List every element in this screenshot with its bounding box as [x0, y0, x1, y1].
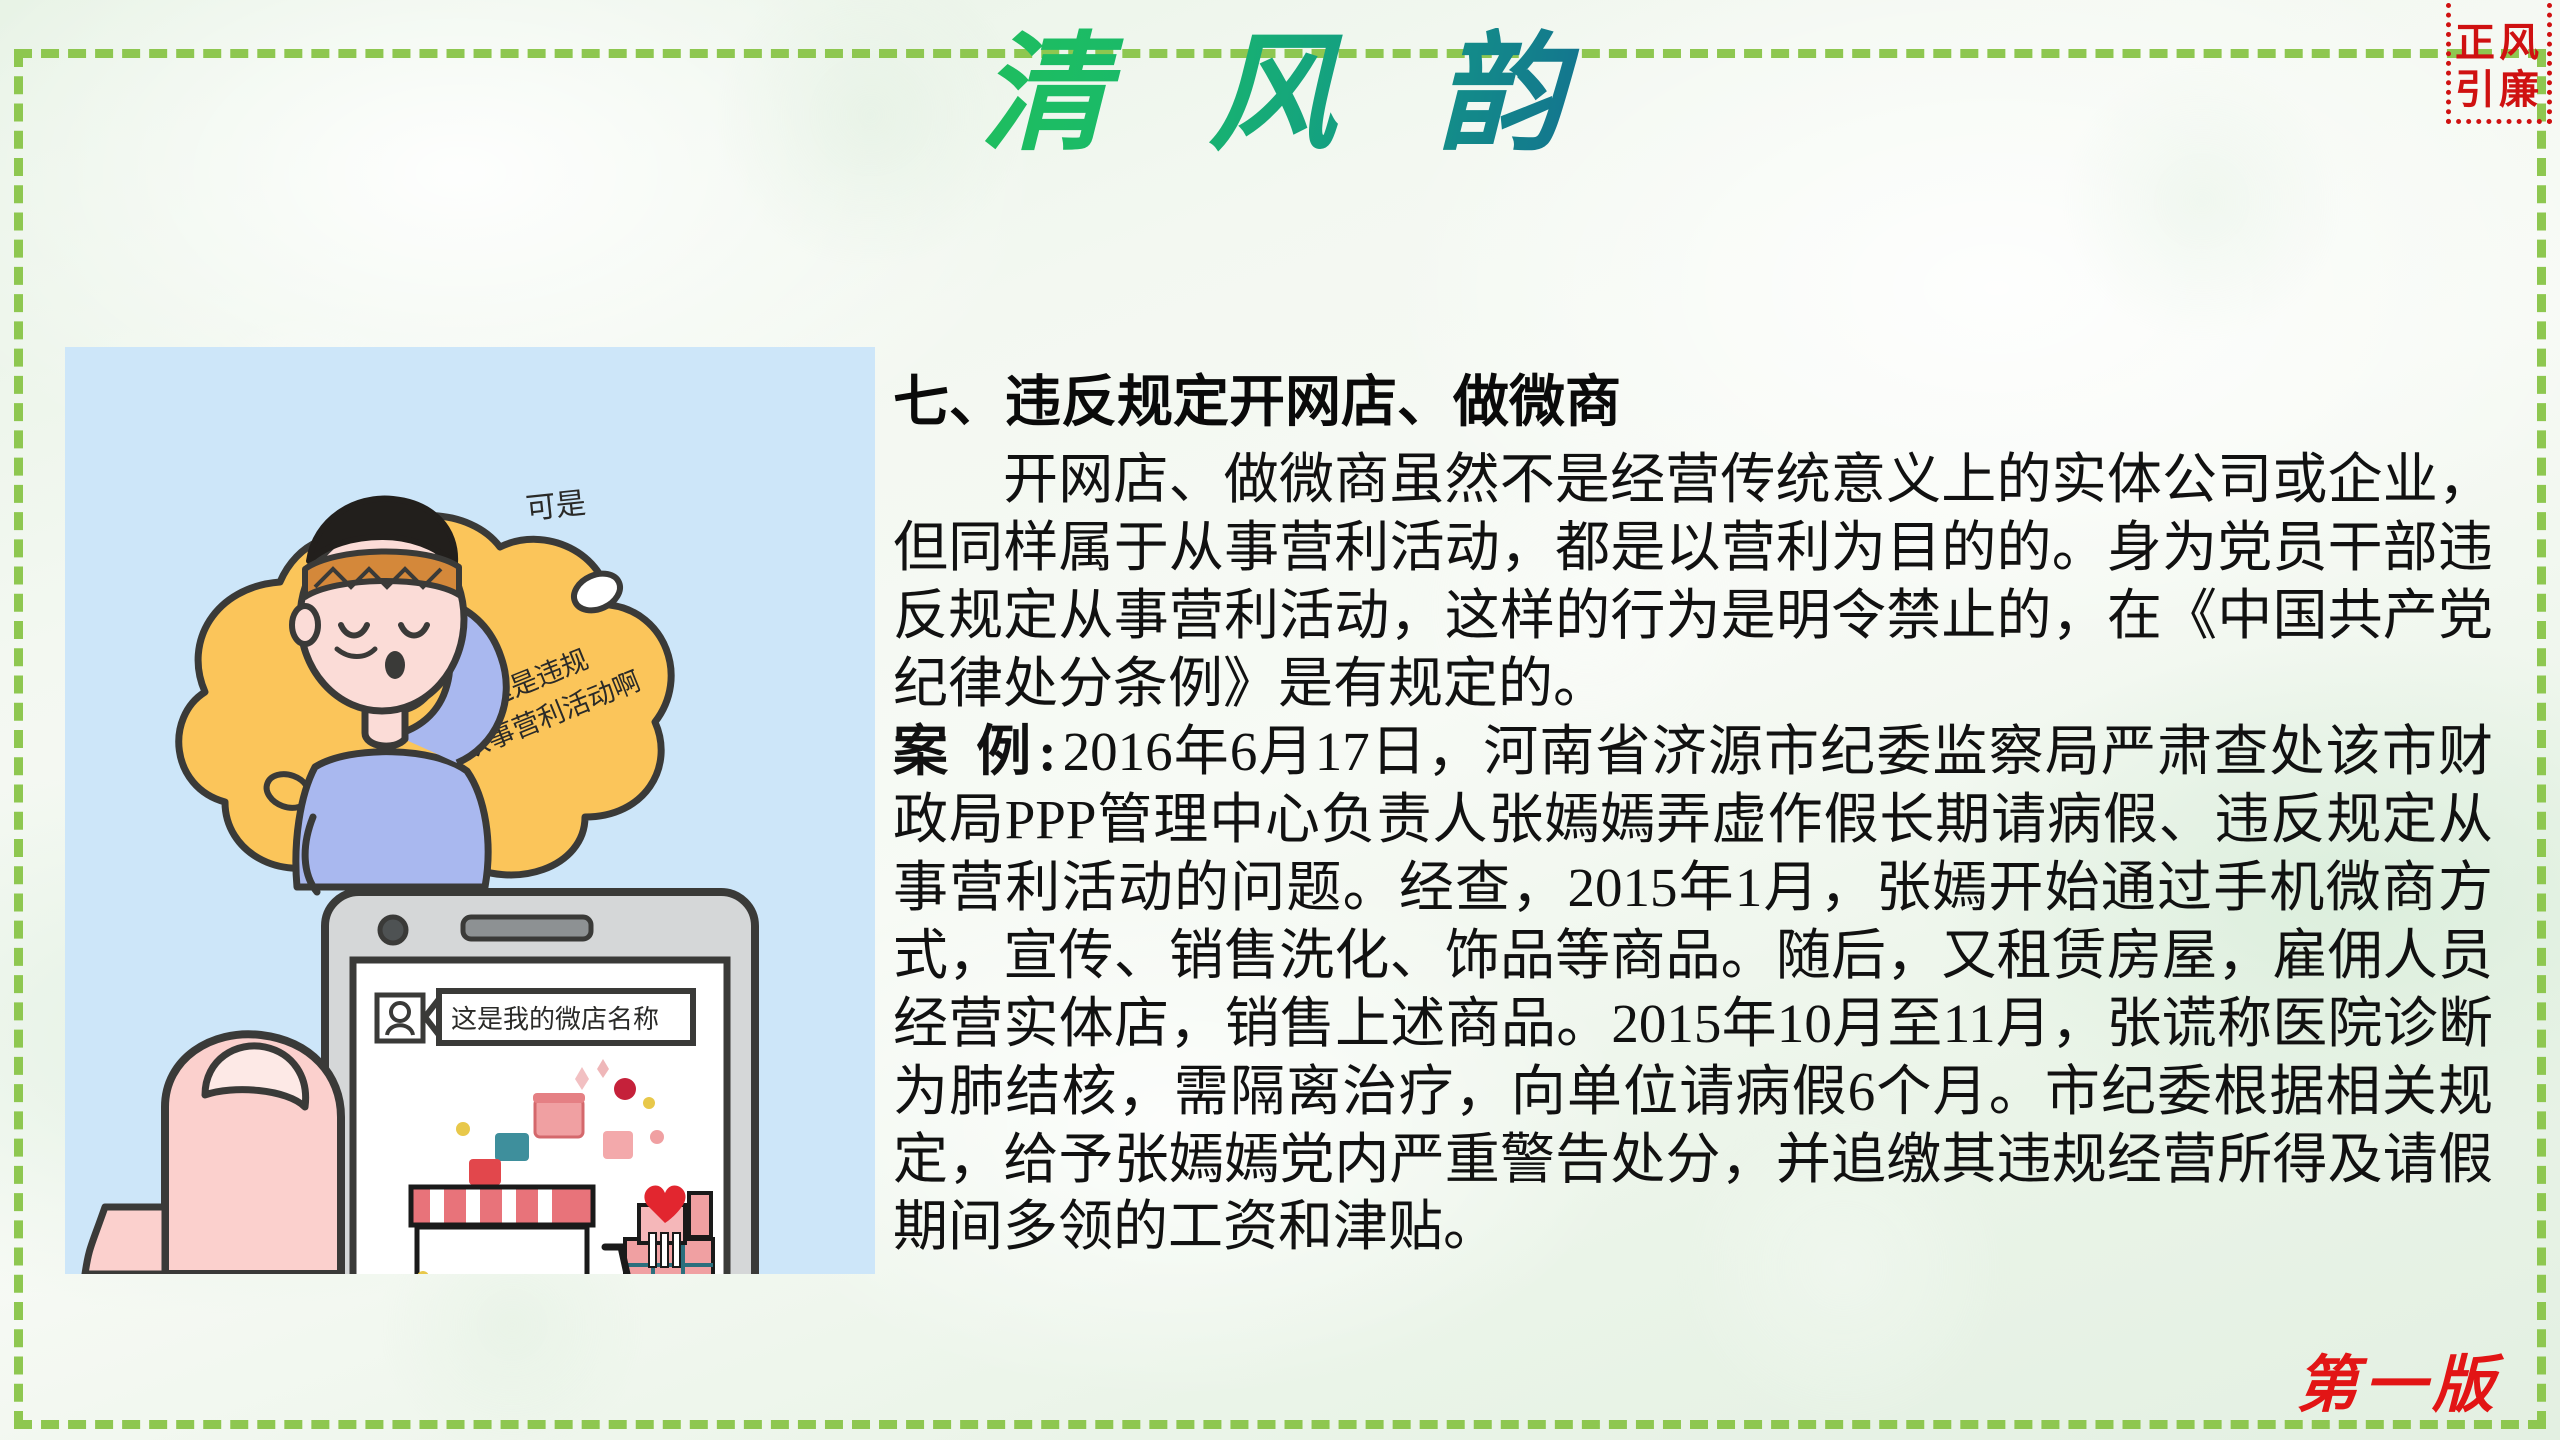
edition-mark: 第一版 [2296, 1334, 2500, 1424]
illustration-artwork: 可是 这是违规 从事营利活动啊 [65, 347, 875, 1274]
seal-line-2: 引廉 [2455, 68, 2543, 113]
main-content: 可是 这是违规 从事营利活动啊 [0, 0, 2560, 1440]
article-body: 开网店、做微商虽然不是经营传统意义上的实体公司或企业，但同样属于从事营利活动，都… [893, 446, 2493, 1261]
article-illustration: 可是 这是违规 从事营利活动啊 [65, 347, 875, 1274]
storefront-icon: BUY [411, 1187, 593, 1274]
newspaper-page: 清 风 韵 正风 引廉 可是 这是违规 从事营利活动啊 [0, 0, 2560, 1440]
thought-text-top: 可是 [524, 487, 587, 526]
article-case: 案 例:2016年6月17日，河南省济源市纪委监察局严肃查处该市财政局PPP管理… [893, 718, 2493, 1261]
case-text: 2016年6月17日，河南省济源市纪委监察局严肃查处该市财政局PPP管理中心负责… [893, 721, 2493, 1257]
seal-line-1: 正风 [2455, 21, 2543, 66]
article-column: 七、违反规定开网店、做微商 开网店、做微商虽然不是经营传统意义上的实体公司或企业… [893, 368, 2493, 1261]
article-paragraph-1: 开网店、做微商虽然不是经营传统意义上的实体公司或企业，但同样属于从事营利活动，都… [893, 446, 2493, 718]
case-label: 案 例: [893, 721, 1063, 782]
phone-shop-name: 这是我的微店名称 [451, 1005, 659, 1034]
smartphone: 这是我的微店名称 [325, 892, 755, 1274]
status-badge: 正风 引廉 [2446, 0, 2552, 124]
phone-shop-header: 这是我的微店名称 [377, 991, 693, 1043]
article-heading: 七、违反规定开网店、做微商 [893, 368, 2493, 436]
